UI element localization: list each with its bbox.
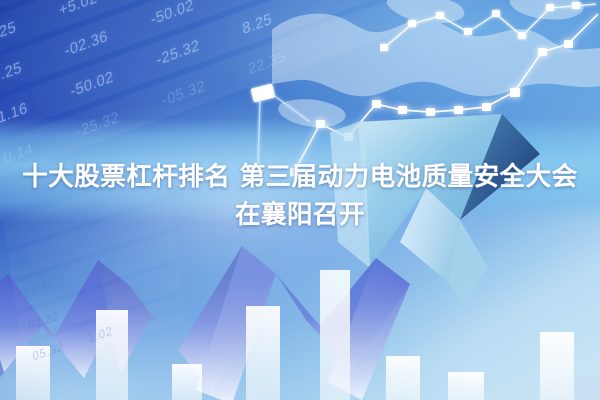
- banner-image: -05.02+02.3521.05 -03.35-11.2545.02 2.05…: [0, 0, 600, 400]
- headline: 十大股票杠杆排名 第三届动力电池质量安全大会 在襄阳召开: [0, 158, 600, 234]
- headline-line-2: 在襄阳召开: [14, 196, 586, 234]
- headline-line-1: 十大股票杠杆排名 第三届动力电池质量安全大会: [14, 158, 586, 196]
